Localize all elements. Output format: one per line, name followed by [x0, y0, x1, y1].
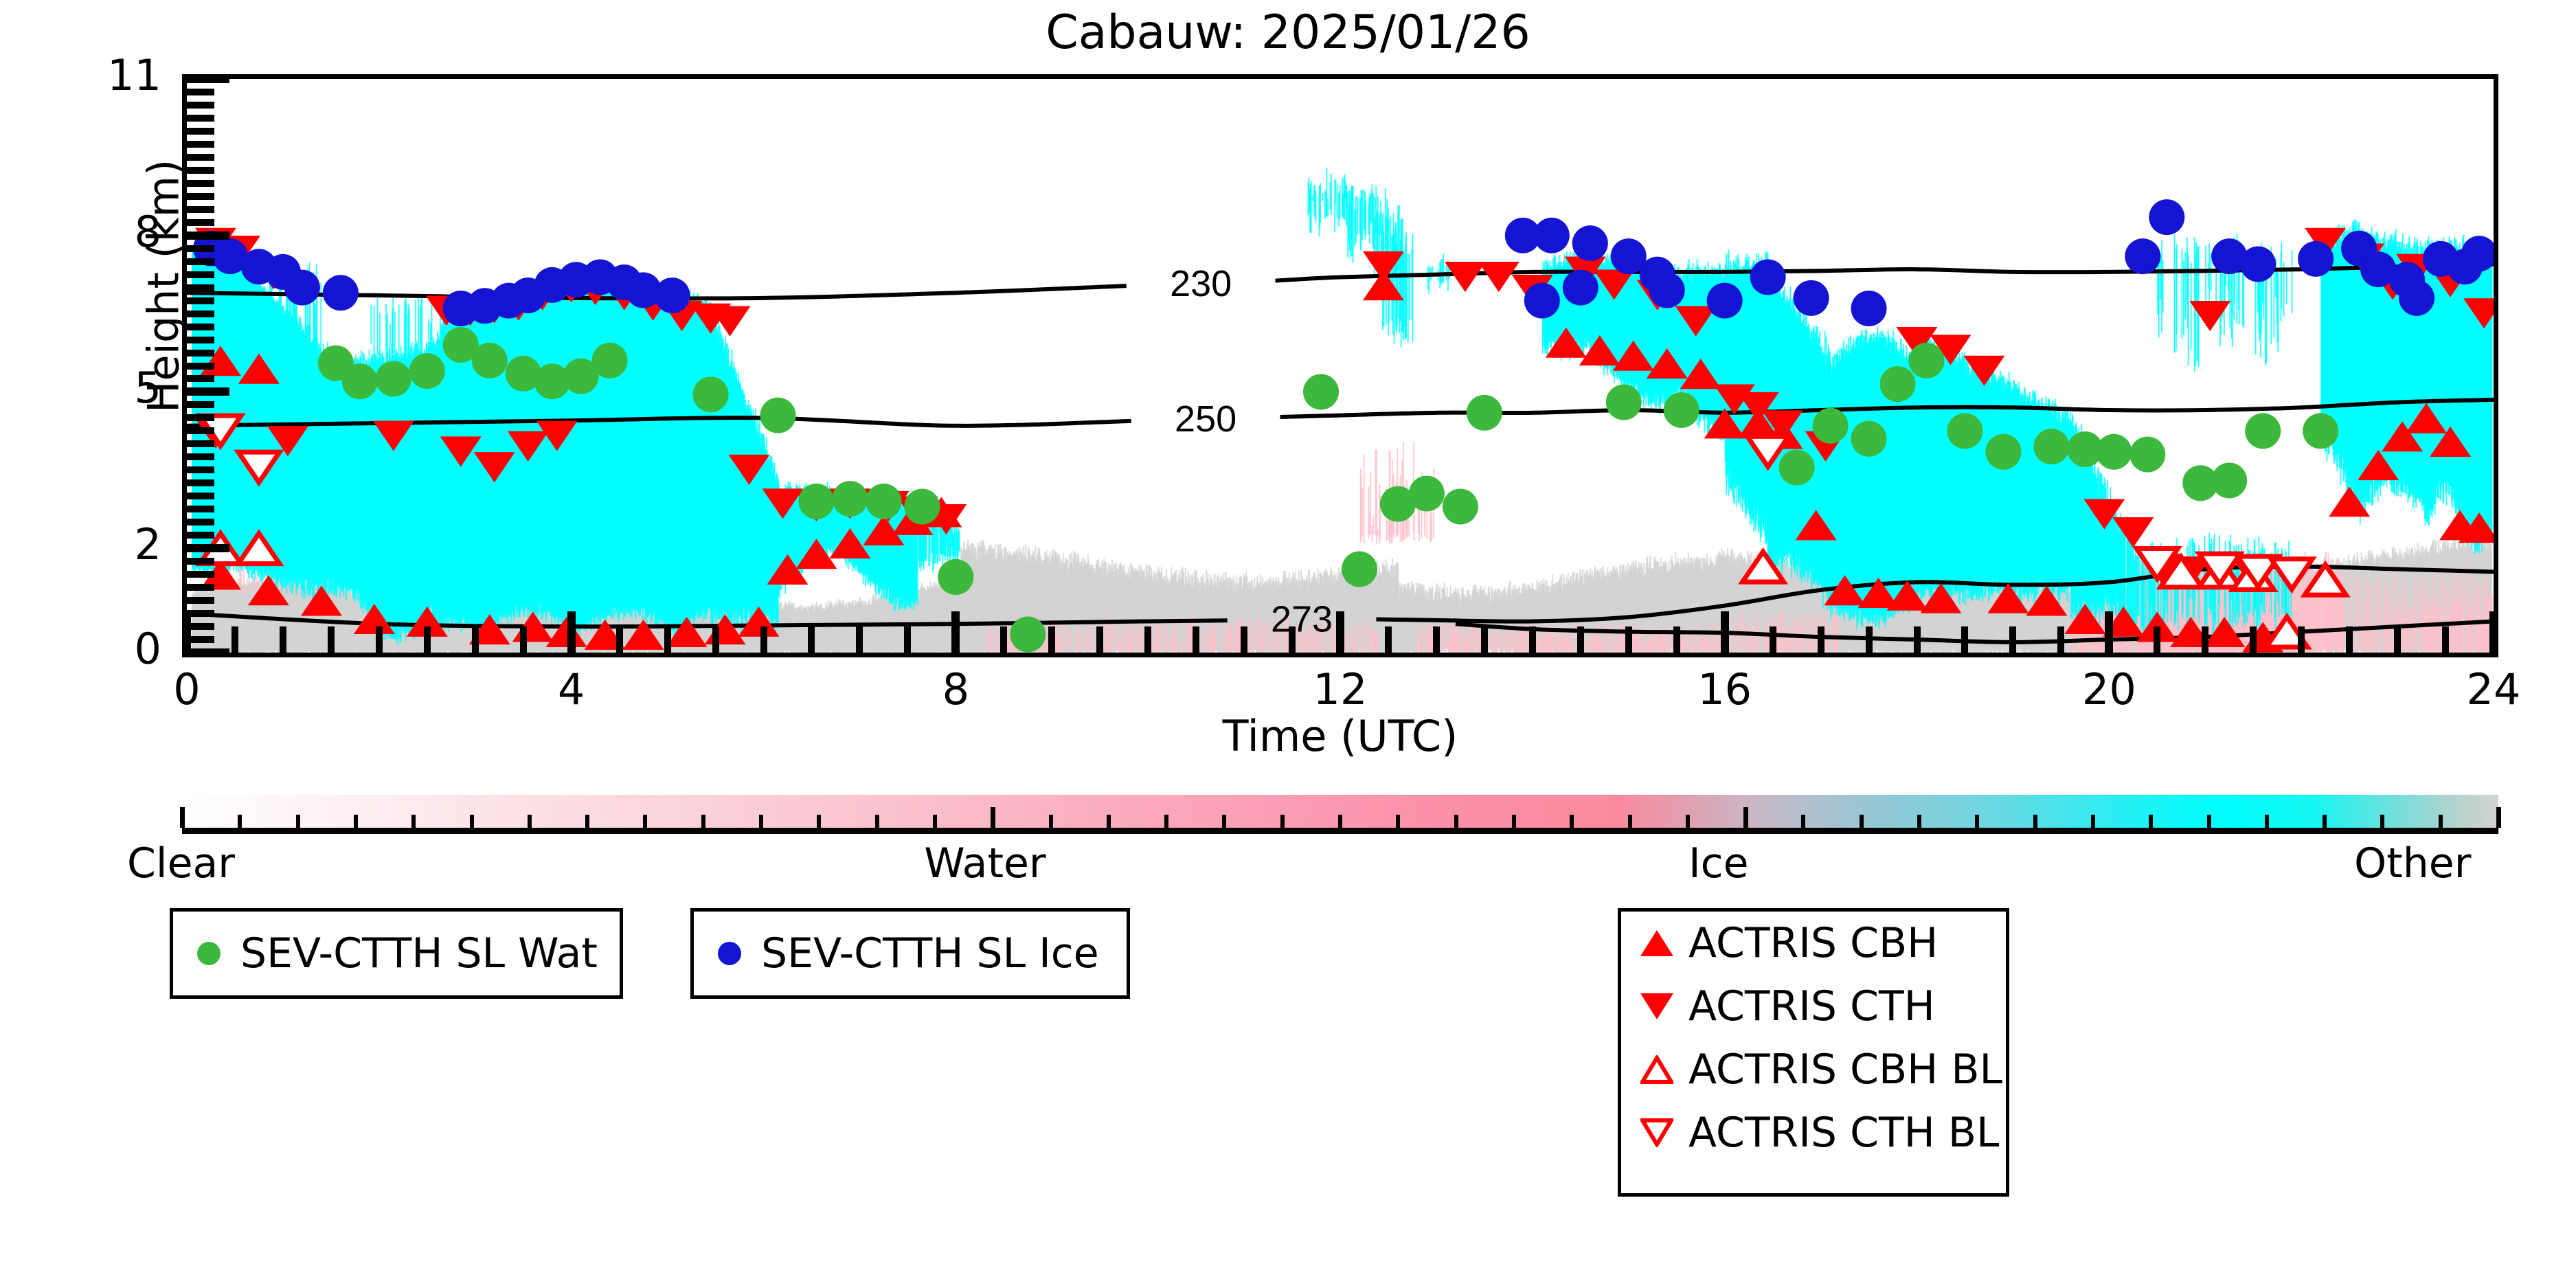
colorbar-tick: [528, 815, 532, 828]
axis-tick: [567, 611, 576, 653]
colorbar-tick: [354, 815, 358, 828]
axis-tick: [187, 623, 214, 630]
colorbar-tick: [1860, 815, 1864, 828]
colorbar-label-ice: Ice: [1688, 839, 1749, 888]
axis-tick: [187, 387, 229, 396]
colorbar-tick: [2033, 815, 2037, 828]
colorbar-tick: [1686, 815, 1690, 828]
axis-tick: [1385, 626, 1392, 653]
colorbar-label-water: Water: [924, 839, 1046, 888]
axis-tick: [187, 506, 214, 512]
marker-sev-ctth-sl-ice: [1649, 272, 1685, 308]
marker-sev-ctth-sl-wat: [1985, 434, 2021, 470]
marker-sev-ctth-sl-ice: [655, 278, 690, 313]
axis-tick: [187, 532, 214, 539]
axis-tick: [2298, 626, 2305, 653]
axis-tick: [2250, 626, 2257, 653]
colorbar-tick: [2091, 815, 2095, 828]
marker-sev-ctth-sl-ice: [1563, 270, 1598, 306]
colorbar-tick: [1570, 815, 1574, 828]
axis-tick: [1577, 626, 1584, 653]
axis-tick: [2442, 626, 2449, 653]
marker-actris-cth: [2112, 517, 2154, 547]
blue-circle-icon: [712, 942, 747, 965]
marker-sev-ctth-sl-wat: [1880, 366, 1916, 402]
axis-tick: [712, 626, 719, 653]
axis-tick: [187, 571, 214, 578]
x-tick-label: 20: [2047, 664, 2171, 714]
axis-tick: [472, 626, 479, 653]
marker-actris-cbh: [1546, 328, 1587, 358]
plot-area: 230250273: [182, 74, 2498, 657]
axis-tick: [328, 626, 335, 653]
axis-tick: [1721, 611, 1729, 653]
axis-tick: [1096, 626, 1103, 653]
legend-row-actris-cth[interactable]: ACTRIS CTH: [1621, 975, 2006, 1038]
colorbar-tick: [701, 815, 705, 828]
marker-sev-ctth-sl-ice: [1794, 280, 1829, 316]
axis-tick: [187, 519, 214, 526]
marker-actris-cth: [440, 436, 482, 466]
axis-tick: [1433, 626, 1440, 653]
marker-sev-ctth-sl-wat: [1467, 395, 1502, 431]
axis-tick: [187, 363, 214, 370]
marker-sev-ctth-sl-wat: [1947, 413, 1982, 449]
y-tick-label: 8: [79, 207, 161, 257]
colorbar-tick: [1164, 815, 1168, 828]
marker-sev-ctth-sl-wat: [798, 484, 834, 519]
isotherm-line-250: [1280, 400, 2494, 417]
marker-actris-cth-bl: [238, 452, 280, 482]
x-tick-label: 4: [510, 664, 633, 714]
marker-actris-cth: [508, 431, 549, 462]
colorbar-tick: [1222, 815, 1226, 828]
axis-tick: [187, 154, 214, 161]
colorbar-tick: [2439, 815, 2443, 828]
colorbar-tick: [238, 815, 242, 828]
colorbar-tick: [759, 815, 763, 828]
marker-sev-ctth-sl-ice: [2298, 241, 2334, 277]
axis-tick: [1000, 626, 1007, 653]
axis-tick: [2105, 611, 2113, 653]
axis-tick: [187, 324, 214, 330]
axis-tick: [1961, 626, 1968, 653]
axis-tick: [1241, 626, 1247, 653]
marker-sev-ctth-sl-wat: [1010, 616, 1046, 652]
x-tick-label: 24: [2432, 664, 2555, 714]
legend-sev-ctth-sl-wat[interactable]: SEV-CTTH SL Wat: [170, 908, 623, 999]
marker-sev-ctth-sl-wat: [2096, 434, 2132, 470]
axis-tick: [231, 626, 238, 653]
marker-sev-ctth-sl-wat: [2245, 413, 2281, 449]
axis-tick: [376, 626, 383, 653]
axis-tick: [187, 479, 214, 486]
marker-sev-ctth-sl-wat: [760, 398, 795, 433]
marker-actris-cbh: [738, 607, 780, 637]
colorbar-tick: [643, 815, 647, 828]
axis-tick: [187, 453, 214, 460]
marker-sev-ctth-sl-wat: [2129, 437, 2165, 473]
colorbar-tick: [1512, 815, 1516, 828]
isotherm-label-273: 273: [1271, 599, 1333, 640]
axis-tick: [187, 310, 214, 317]
axis-tick: [187, 636, 214, 643]
axis-tick: [187, 648, 229, 657]
colorbar-tick: [1743, 807, 1748, 828]
marker-actris-cbh: [1796, 510, 1837, 540]
axis-tick: [2009, 626, 2016, 653]
y-axis-label: Height (km): [139, 80, 189, 493]
x-tick-label: 0: [125, 664, 249, 714]
colorbar-tick: [875, 815, 879, 828]
marker-actris-cbh: [2406, 403, 2447, 433]
cloud-classification-field: 230250273: [187, 79, 2494, 653]
triangle-up-open-icon: [1639, 1055, 1675, 1084]
legend-actris[interactable]: ACTRIS CBH ACTRIS CTH ACTRIS CBH BL ACTR…: [1618, 908, 2009, 1197]
axis-tick: [808, 626, 815, 653]
axis-tick: [1529, 626, 1536, 653]
marker-sev-ctth-sl-ice: [1572, 225, 1608, 261]
colorbar-tick: [933, 815, 937, 828]
marker-sev-ctth-sl-wat: [693, 376, 729, 412]
marker-actris-cbh: [2026, 585, 2067, 615]
colorbar-tick: [180, 807, 185, 828]
legend-label-sev-ice: SEV-CTTH SL Ice: [761, 929, 1099, 978]
axis-tick: [2346, 626, 2353, 653]
axis-tick: [187, 427, 214, 434]
marker-actris-cbh-bl: [238, 533, 280, 563]
axis-tick: [424, 626, 431, 653]
axis-tick: [187, 544, 229, 552]
axis-tick: [280, 626, 286, 653]
marker-sev-ctth-sl-wat: [1606, 385, 1642, 420]
axis-tick: [856, 626, 863, 653]
triangle-up-filled-icon: [1639, 930, 1675, 956]
axis-tick: [187, 350, 214, 357]
legend-row-actris-cth-bl[interactable]: ACTRIS CTH BL: [1621, 1101, 2006, 1164]
marker-actris-cth: [2189, 301, 2230, 331]
axis-tick: [187, 167, 214, 174]
marker-actris-cth: [729, 455, 770, 485]
x-axis-label: Time (UTC): [182, 711, 2498, 761]
legend-label-sev-wat: SEV-CTTH SL Wat: [240, 929, 598, 978]
page-title: Cabauw: 2025/01/26: [0, 5, 2576, 60]
marker-actris-cbh: [623, 620, 664, 650]
axis-tick: [1289, 626, 1296, 653]
colorbar-tick: [2265, 815, 2269, 828]
legend-label-actris-cth: ACTRIS CTH: [1688, 982, 1935, 1030]
marker-actris-cbh: [2204, 617, 2245, 647]
axis-tick: [187, 271, 214, 278]
marker-actris-cbh: [1920, 583, 1961, 613]
marker-actris-cbh: [795, 539, 837, 569]
marker-sev-ctth-sl-wat: [1664, 392, 1699, 428]
axis-tick: [187, 219, 214, 226]
marker-sev-ctth-sl-wat: [2303, 413, 2338, 449]
colorbar-tick: [1917, 815, 1921, 828]
axis-tick: [187, 284, 214, 291]
colorbar-tick: [2207, 815, 2211, 828]
marker-actris-cbh: [1647, 348, 1688, 379]
marker-sev-ctth-sl-wat: [1443, 488, 1478, 524]
marker-sev-ctth-sl-wat: [409, 353, 445, 389]
colorbar-tick: [1280, 815, 1285, 828]
y-tick-label: 11: [79, 50, 161, 100]
colorbar-label-clear: Clear: [127, 839, 235, 888]
legend-row-actris-cbh[interactable]: ACTRIS CBH: [1621, 912, 2006, 975]
marker-sev-ctth-sl-ice: [1524, 283, 1560, 319]
x-tick-label: 8: [894, 664, 1017, 714]
axis-tick: [187, 206, 214, 213]
marker-actris-cth: [373, 421, 414, 451]
marker-sev-ctth-sl-wat: [1851, 421, 1887, 457]
isotherm-line-273-lower-branch: [1456, 621, 2494, 642]
marker-actris-cbh: [705, 614, 746, 644]
marker-sev-ctth-sl-wat: [1779, 450, 1815, 486]
triangle-down-filled-icon: [1639, 993, 1675, 1019]
marker-sev-ctth-sl-ice: [1707, 283, 1743, 319]
axis-tick: [1673, 626, 1680, 653]
axis-tick: [187, 193, 214, 200]
axis-tick: [187, 180, 214, 187]
axis-tick: [187, 558, 214, 565]
axis-tick: [187, 231, 229, 240]
marker-sev-ctth-sl-wat: [376, 361, 411, 396]
colorbar-tick: [1049, 815, 1053, 828]
legend-label-actris-cbh-bl: ACTRIS CBH BL: [1688, 1046, 2002, 1094]
colorbar-tick: [2323, 815, 2327, 828]
marker-actris-cbh: [301, 585, 342, 615]
axis-tick: [187, 115, 214, 122]
marker-sev-ctth-sl-wat: [832, 481, 868, 517]
x-tick-label: 12: [1278, 664, 1402, 714]
axis-tick: [1866, 626, 1873, 653]
axis-tick: [187, 414, 214, 421]
marker-actris-cbh: [1613, 341, 1654, 371]
axis-tick: [1481, 626, 1488, 653]
colorbar-tick: [296, 815, 300, 828]
marker-sev-ctth-sl-wat: [2033, 429, 2069, 464]
marker-actris-cbh: [829, 528, 870, 558]
axis-tick: [2057, 626, 2064, 653]
axis-tick: [187, 584, 214, 591]
axis-tick: [187, 297, 214, 304]
y-tick-label: 5: [79, 363, 161, 413]
colorbar-tick: [1628, 815, 1632, 828]
legend-label-actris-cth-bl: ACTRIS CTH BL: [1688, 1109, 1999, 1157]
marker-sev-ctth-sl-wat: [592, 343, 628, 379]
axis-tick: [187, 89, 214, 95]
axis-tick: [187, 128, 214, 135]
colorbar-tick: [2380, 815, 2384, 828]
marker-sev-ctth-sl-wat: [938, 559, 973, 595]
marker-sev-ctth-sl-ice: [2447, 249, 2483, 284]
colorbar-axis-line: [182, 828, 2498, 834]
axis-tick: [187, 141, 214, 148]
marker-sev-ctth-sl-ice: [2149, 199, 2184, 235]
colorbar-tick: [2496, 807, 2501, 828]
colorbar-tick: [2149, 815, 2153, 828]
axis-tick: [1818, 626, 1824, 653]
marker-sev-ctth-sl-wat: [1342, 552, 1377, 587]
green-circle-icon: [191, 942, 227, 965]
axis-tick: [1625, 626, 1632, 653]
axis-tick: [187, 401, 214, 408]
marker-actris-cbh: [767, 554, 808, 585]
marker-actris-cbh: [1579, 335, 1620, 365]
marker-sev-ctth-sl-ice: [2125, 238, 2160, 274]
marker-sev-ctth-sl-wat: [904, 488, 940, 524]
marker-actris-cbh: [238, 354, 280, 384]
marker-actris-cbh: [248, 575, 289, 605]
axis-tick: [1336, 611, 1344, 653]
axis-tick: [187, 493, 214, 499]
legend-row-actris-cbh-bl[interactable]: ACTRIS CBH BL: [1621, 1038, 2006, 1101]
axis-tick: [187, 375, 214, 382]
colorbar-tick: [1107, 815, 1111, 828]
y-tick-label: 2: [79, 519, 161, 569]
marker-actris-cbh: [1987, 583, 2029, 613]
isotherm-line-273: [187, 613, 1228, 626]
triangle-down-open-icon: [1639, 1118, 1675, 1147]
axis-tick: [760, 626, 767, 653]
colorbar-tick: [1801, 815, 1805, 828]
marker-sev-ctth-sl-wat: [866, 484, 901, 519]
marker-actris-cbh: [2329, 486, 2370, 517]
colorbar-tick: [585, 815, 589, 828]
axis-tick: [187, 337, 214, 343]
marker-sev-ctth-sl-ice: [1750, 259, 1786, 295]
marker-actris-cbh: [2358, 450, 2399, 480]
marker-actris-cth: [1478, 262, 1519, 292]
x-tick-label: 16: [1663, 664, 1787, 714]
marker-sev-ctth-sl-ice: [284, 270, 320, 306]
colorbar-tick: [817, 815, 821, 828]
axis-tick: [187, 440, 214, 447]
marker-sev-ctth-sl-ice: [2399, 280, 2434, 316]
axis-tick: [1914, 626, 1921, 653]
marker-sev-ctth-sl-wat: [2211, 463, 2247, 499]
axis-tick: [187, 75, 229, 83]
axis-tick: [1770, 626, 1776, 653]
marker-sev-ctth-sl-wat: [1813, 408, 1849, 444]
marker-actris-cbh: [2064, 604, 2105, 634]
axis-tick: [2202, 626, 2208, 653]
axis-tick: [2489, 611, 2498, 653]
legend-label-actris-cbh: ACTRIS CBH: [1688, 919, 1938, 967]
marker-actris-cth: [474, 452, 515, 482]
colorbar-tick: [1454, 815, 1458, 828]
isotherm-label-250: 250: [1175, 398, 1236, 440]
marker-sev-ctth-sl-ice: [323, 275, 359, 310]
axis-tick: [951, 611, 960, 653]
axis-tick: [183, 611, 191, 653]
axis-tick: [187, 610, 214, 617]
axis-tick: [1144, 626, 1151, 653]
axis-tick: [904, 626, 911, 653]
marker-sev-ctth-sl-wat: [472, 343, 508, 379]
marker-actris-cth: [1963, 356, 2004, 386]
marker-actris-cbh-bl: [1743, 552, 1784, 582]
marker-actris-cth: [2463, 298, 2494, 328]
axis-tick: [520, 626, 527, 653]
axis-tick: [2394, 626, 2401, 653]
axis-tick: [187, 258, 214, 265]
marker-sev-ctth-sl-wat: [1303, 374, 1339, 409]
marker-actris-cbh: [666, 617, 708, 647]
axis-tick: [616, 626, 623, 653]
marker-actris-cth-bl: [2271, 559, 2312, 589]
axis-tick: [187, 597, 214, 604]
colorbar-tick: [1396, 815, 1400, 828]
marker-actris-cbh: [546, 617, 587, 647]
colorbar-label-other: Other: [2354, 839, 2471, 888]
colorbar-tick: [1338, 815, 1342, 828]
colorbar-tick: [411, 815, 416, 828]
axis-tick: [664, 626, 671, 653]
marker-sev-ctth-sl-ice: [1534, 218, 1570, 253]
marker-sev-ctth-sl-ice: [2240, 246, 2276, 282]
marker-actris-cbh: [354, 604, 395, 634]
colorbar-tick: [470, 815, 474, 828]
marker-sev-ctth-sl-ice: [1851, 291, 1887, 326]
colorbar-tick: [1975, 815, 1979, 828]
axis-tick: [187, 102, 214, 109]
axis-tick: [1193, 626, 1199, 653]
axis-tick: [187, 245, 214, 252]
isotherm-line-250: [187, 418, 1131, 426]
marker-sev-ctth-sl-wat: [342, 363, 378, 399]
marker-actris-cth: [1445, 262, 1486, 292]
axis-tick: [1048, 626, 1055, 653]
axis-tick: [187, 466, 214, 473]
axis-tick: [2154, 626, 2160, 653]
marker-sev-ctth-sl-wat: [1409, 475, 1445, 511]
legend-sev-ctth-sl-ice[interactable]: SEV-CTTH SL Ice: [690, 908, 1130, 999]
marker-sev-ctth-sl-wat: [1908, 343, 1944, 379]
isotherm-label-230: 230: [1170, 263, 1232, 304]
colorbar-tick: [991, 807, 995, 828]
markers-and-contours-overlay: 230250273: [187, 79, 2494, 653]
